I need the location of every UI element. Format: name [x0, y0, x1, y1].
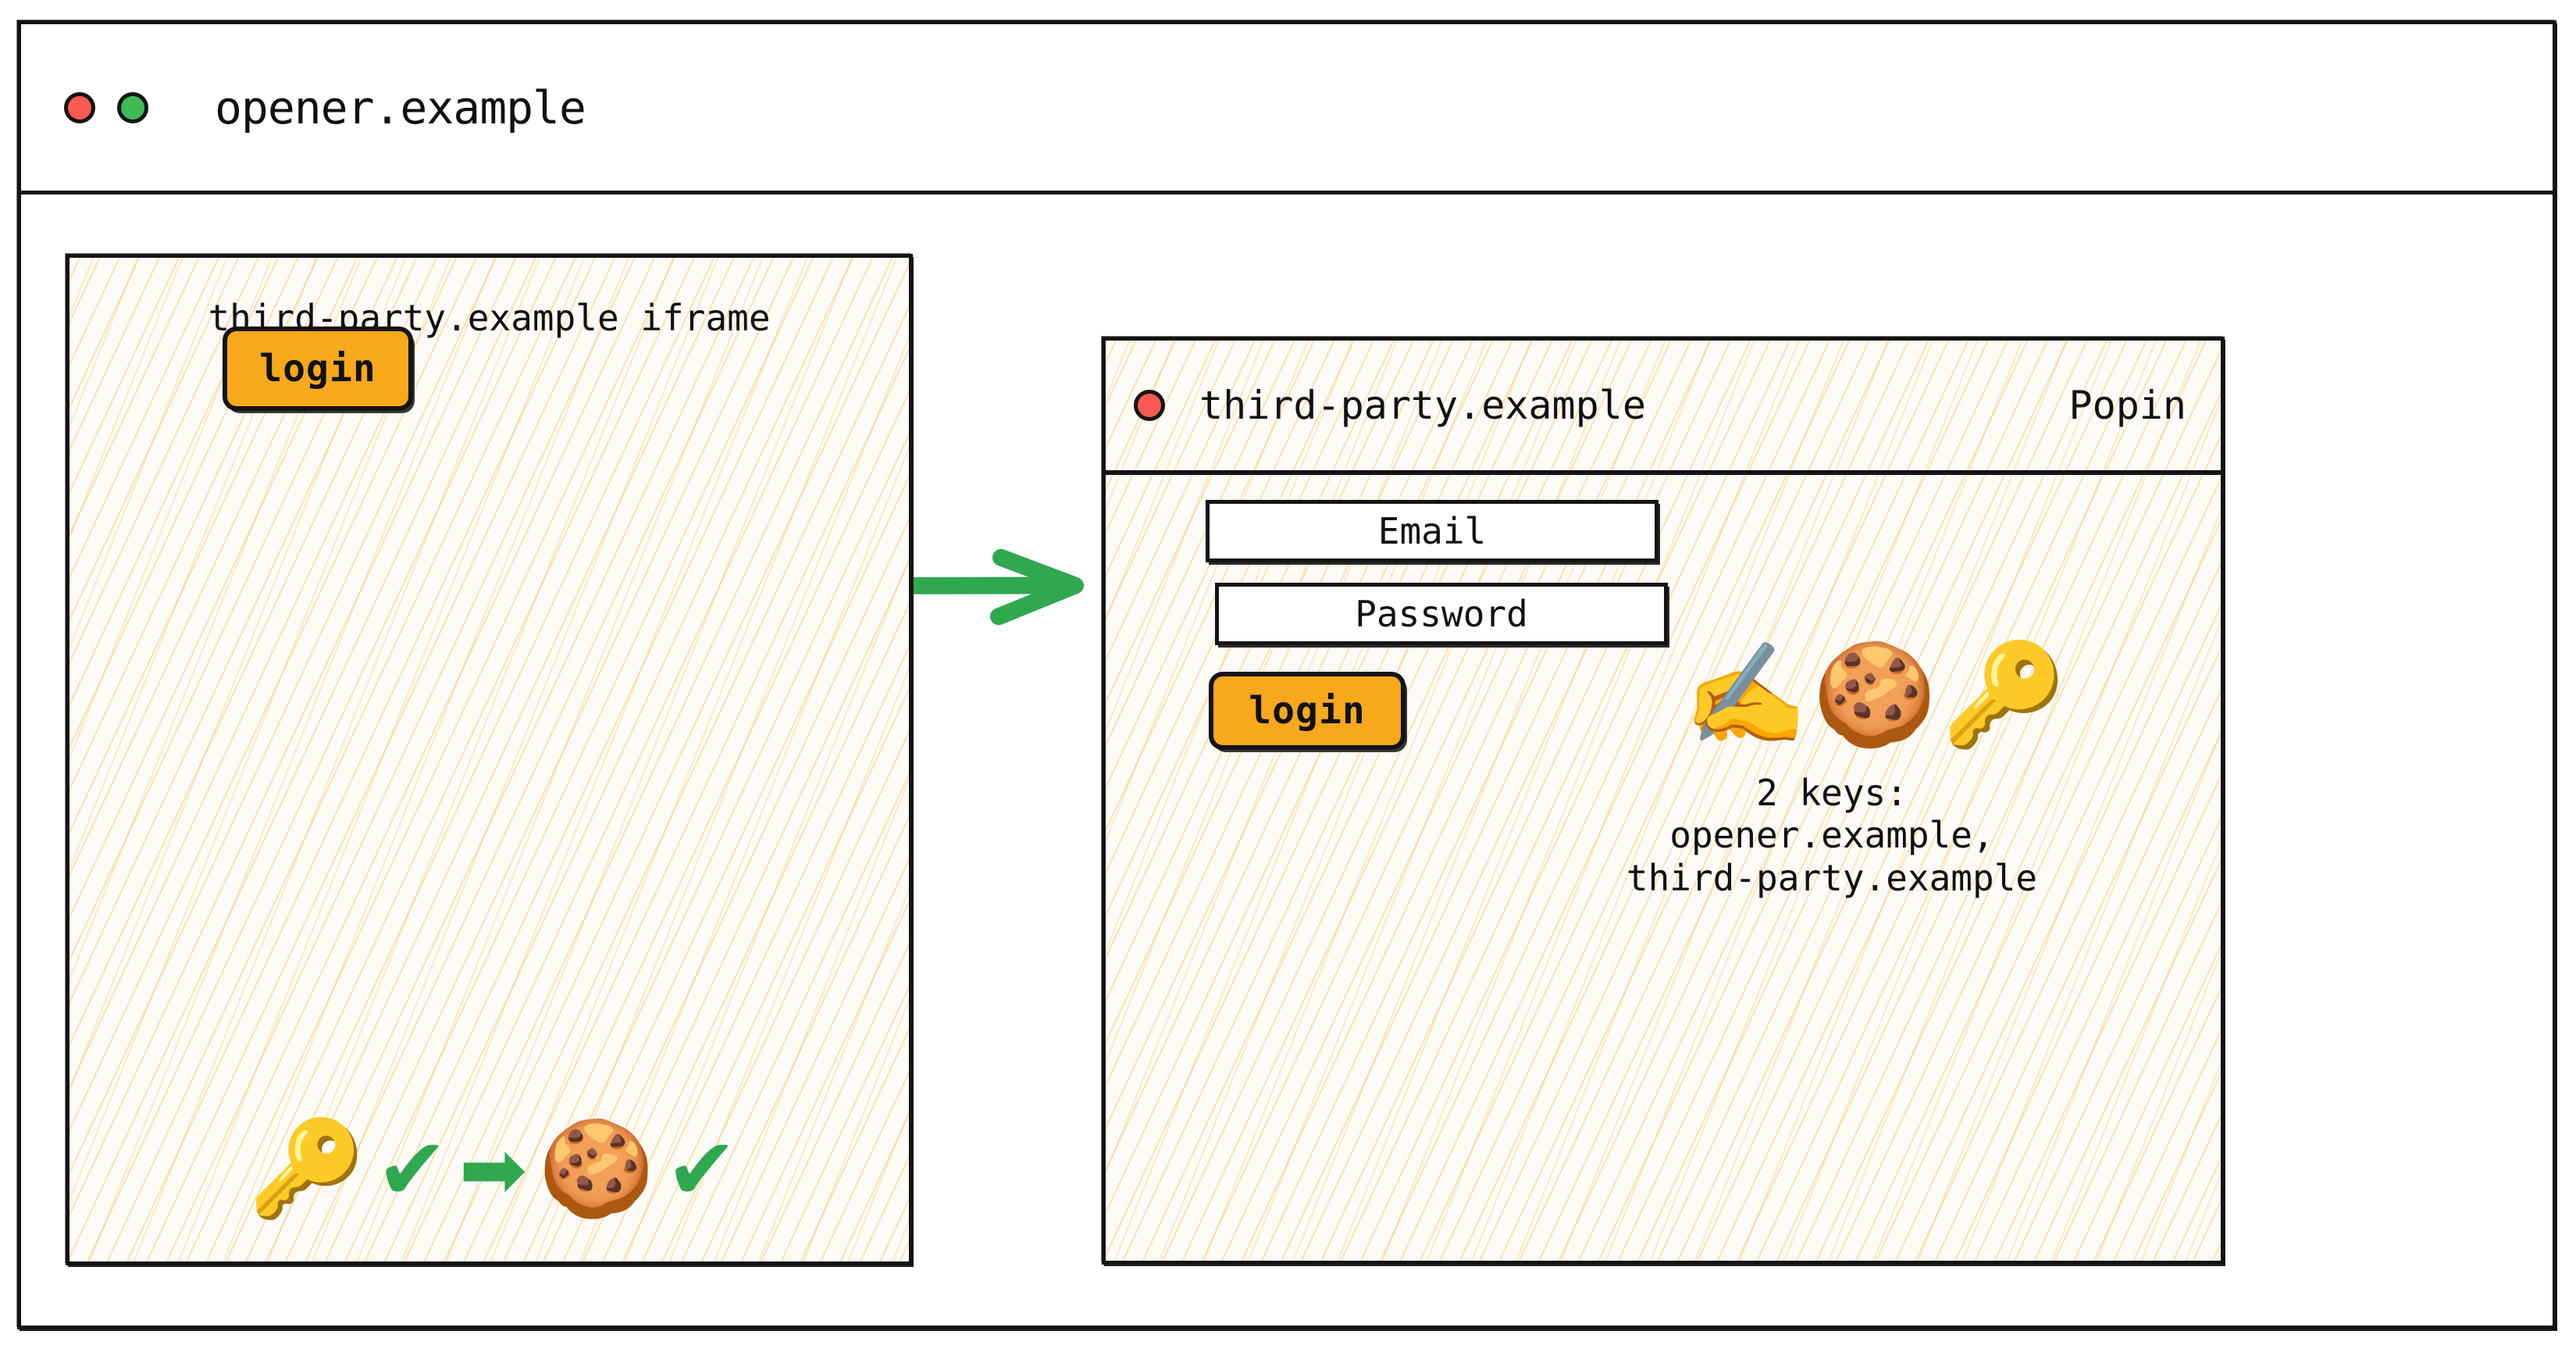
browser-titlebar: opener.example: [21, 24, 2553, 194]
key-icon: 🔑: [248, 1122, 365, 1216]
popin-close-dot-icon[interactable]: [1134, 390, 1165, 421]
password-field[interactable]: Password: [1215, 583, 1668, 645]
writing-hand-icon: ✍️: [1683, 645, 1808, 745]
iframe-label: third-party.example iframe: [69, 297, 909, 339]
key-icon: 🔑: [1942, 645, 2066, 745]
cookie-icon: 🍪: [538, 1122, 654, 1216]
popin-titlebar: third-party.example Popin: [1106, 341, 2221, 475]
popin-keys-note: 2 keys: opener.example, third-party.exam…: [1543, 772, 2121, 899]
popin-kind-label: Popin: [2068, 383, 2186, 428]
window-controls: [64, 92, 148, 123]
maximize-dot-icon[interactable]: [117, 92, 148, 123]
browser-viewport: third-party.example iframe login 🔑 ✔ ➡ 🍪…: [21, 194, 2553, 1326]
window-title: opener.example: [215, 81, 586, 134]
storage-arrow-icon: ➡: [459, 1129, 527, 1210]
iframe-storage-row: 🔑 ✔ ➡ 🍪 ✔: [84, 1122, 903, 1216]
popin-login-button[interactable]: login: [1209, 672, 1406, 750]
popin-origin-label: third-party.example: [1199, 383, 1646, 428]
iframe-login-button[interactable]: login: [223, 327, 413, 411]
close-dot-icon[interactable]: [64, 92, 95, 123]
popin-credential-row: ✍️ 🍪 🔑: [1683, 645, 2066, 745]
cookie-icon: 🍪: [1812, 645, 1936, 745]
popin-window: third-party.example Popin Email Password…: [1102, 337, 2225, 1265]
popin-body: Email Password login ✍️ 🍪 🔑 2 keys: open…: [1106, 475, 2221, 1261]
key-allowed-check-icon: ✔: [376, 1126, 448, 1212]
email-field[interactable]: Email: [1206, 500, 1659, 562]
diagram-canvas: opener.example third-party.example ifram…: [0, 0, 2576, 1356]
browser-window: opener.example third-party.example ifram…: [17, 20, 2556, 1329]
third-party-iframe-panel: third-party.example iframe login 🔑 ✔ ➡ 🍪…: [66, 254, 913, 1265]
cookie-allowed-check-icon: ✔: [665, 1126, 737, 1212]
